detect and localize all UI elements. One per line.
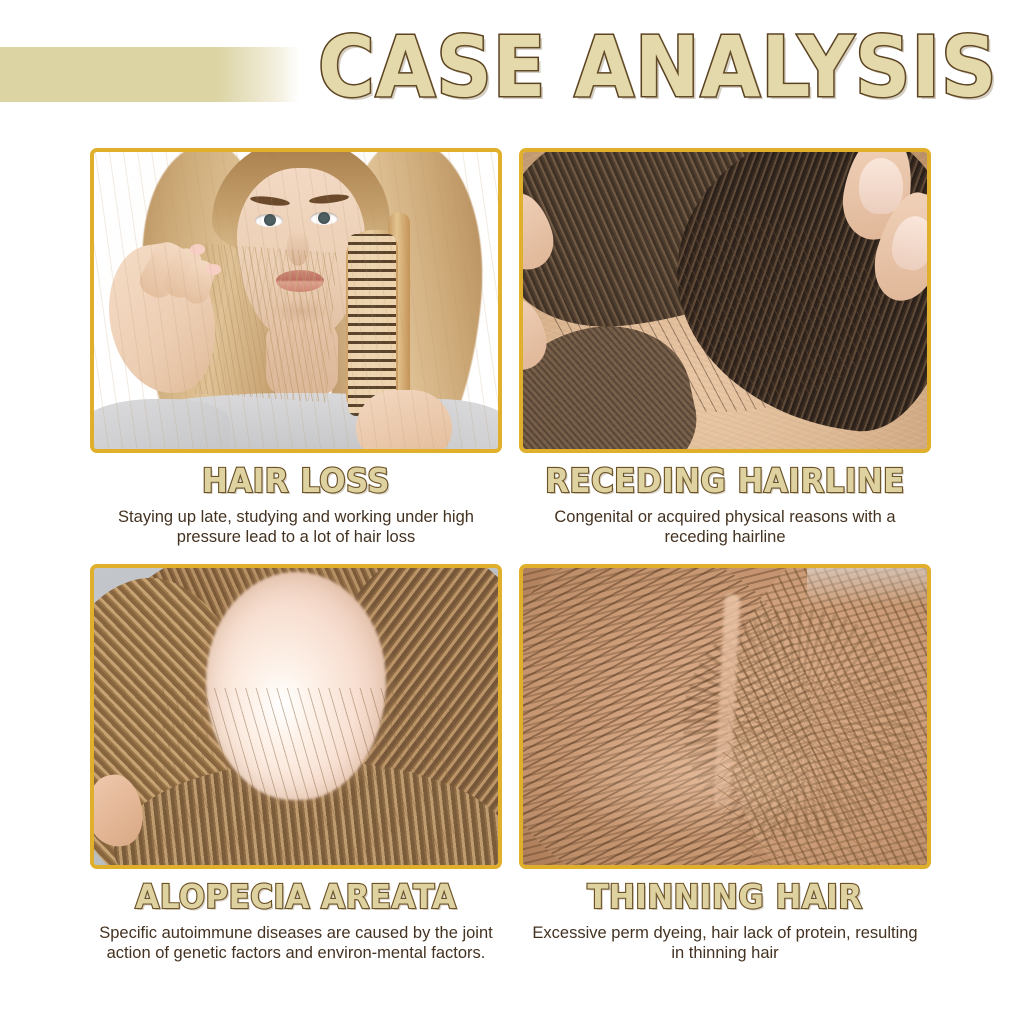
header-accent-bar xyxy=(0,47,300,102)
case-description-receding-hairline: Congenital or acquired physical reasons … xyxy=(519,507,931,547)
photo-hair-loss xyxy=(94,152,498,449)
photo-frame-hair-loss xyxy=(90,148,502,453)
case-title-alopecia-areata: ALOPECIA AREATA xyxy=(82,879,510,915)
case-title-thinning-hair: THINNING HAIR xyxy=(511,879,939,915)
case-description-hair-loss: Staying up late, studying and working un… xyxy=(90,507,502,547)
photo-receding-hairline xyxy=(523,152,927,449)
case-description-alopecia-areata: Specific autoimmune diseases are caused … xyxy=(90,923,502,963)
case-title-receding-hairline: RECEDING HAIRLINE xyxy=(511,463,939,499)
photo-thinning-hair xyxy=(523,568,927,865)
case-card-receding-hairline[interactable]: RECEDING HAIRLINE Congenital or acquired… xyxy=(519,148,931,547)
photo-frame-receding-hairline xyxy=(519,148,931,453)
case-title-hair-loss: HAIR LOSS xyxy=(82,463,510,499)
case-description-thinning-hair: Excessive perm dyeing, hair lack of prot… xyxy=(519,923,931,963)
photo-alopecia-areata xyxy=(94,568,498,865)
case-card-thinning-hair[interactable]: THINNING HAIR Excessive perm dyeing, hai… xyxy=(519,564,931,963)
page-title: CASE ANALYSIS xyxy=(318,22,930,112)
case-card-alopecia-areata[interactable]: ALOPECIA AREATA Specific autoimmune dise… xyxy=(90,564,502,963)
case-card-hair-loss[interactable]: HAIR LOSS Staying up late, studying and … xyxy=(90,148,502,547)
photo-frame-alopecia-areata xyxy=(90,564,502,869)
case-grid: HAIR LOSS Staying up late, studying and … xyxy=(0,130,1024,1024)
photo-frame-thinning-hair xyxy=(519,564,931,869)
page-header: CASE ANALYSIS xyxy=(0,0,1024,130)
